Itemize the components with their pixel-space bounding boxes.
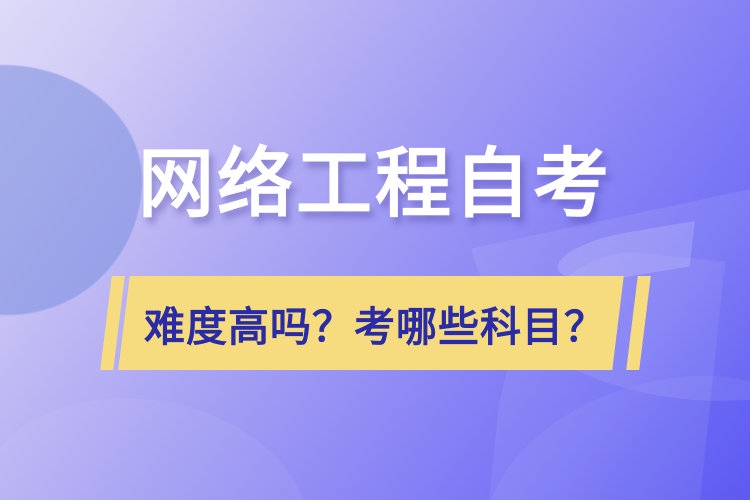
- subtitle-banner: 难度高吗？考哪些科目？: [0, 276, 750, 370]
- decorative-swoosh-bottom-right: [467, 362, 750, 500]
- poster-title: 网络工程自考: [0, 146, 750, 222]
- promo-poster: 网络工程自考 难度高吗？考哪些科目？: [0, 0, 750, 500]
- poster-subtitle: 难度高吗？考哪些科目？: [0, 276, 750, 370]
- decorative-swoosh-bottom-left: [0, 373, 327, 500]
